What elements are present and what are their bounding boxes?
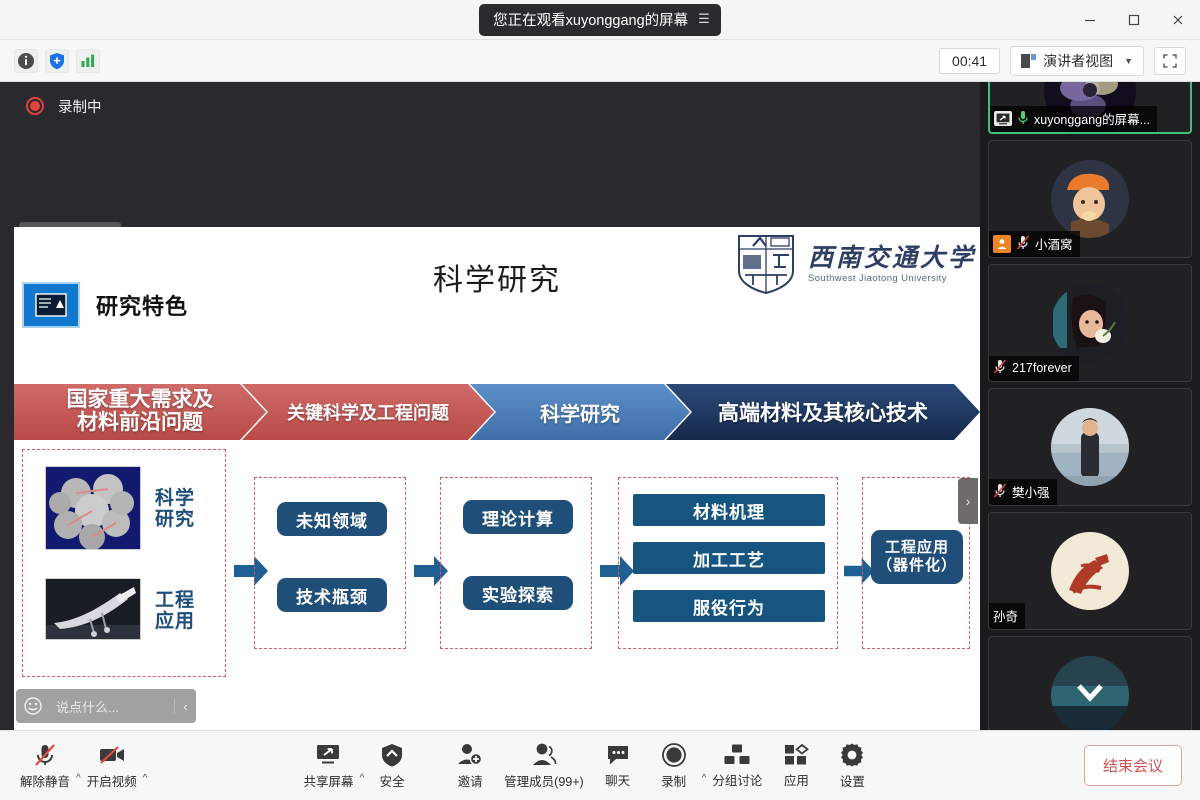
breakout-rooms-label: 分组讨论 [712,770,762,789]
manage-participants-button[interactable]: 管理成员(99+) [498,742,590,790]
meeting-timer: 00:41 [939,48,1000,74]
settings-button[interactable]: 设置 [824,742,880,790]
participant-name: 小酒窝 [1035,234,1073,253]
slide-subheading-label: 研究特色 [96,289,188,321]
sharing-indicator[interactable]: 您正在观看xuyonggang的屏幕 ☰ [479,4,721,36]
apps-button[interactable]: 应用 [768,743,824,789]
shared-screen-area: 录制中 锁定画面 科学研究 [0,82,980,730]
screen-share-icon [994,111,1012,126]
share-screen-button[interactable]: 共享屏幕 [297,742,359,790]
chevron-step-2: 关键科学及工程问题 [242,384,494,440]
engineering-application-caption: 工程 应用 [155,590,195,633]
breakout-rooms-icon [723,743,751,767]
participant-tile-fanxiaoqiang[interactable]: 樊小强 [988,388,1192,506]
record-label: 录制 [661,771,686,790]
participant-name-row: 樊小强 [989,479,1057,505]
recording-label: 录制中 [58,96,102,117]
chat-bubble-icon [605,743,631,767]
mic-off-icon [993,483,1007,501]
university-logo: 西南交通大学 Southwest Jiaotong University [733,233,976,295]
start-video-button[interactable]: 开启视频 [81,742,143,790]
security-button[interactable]: 安全 [364,742,420,790]
participant-tile-217forever[interactable]: 217forever [988,264,1192,382]
mic-off-icon [993,359,1007,377]
shield-plus-icon[interactable] [45,49,69,73]
presentation-slide: 科学研究 西南交通大学 Southwest Jiaotong Universit… [14,227,980,730]
share-screen-label: 共享屏幕 [303,771,353,790]
unmute-button[interactable]: 解除静音 [14,742,76,790]
title-bar: 您正在观看xuyonggang的屏幕 ☰ [0,0,1200,40]
toolbar-left-icons [0,49,100,73]
sharing-menu-icon[interactable]: ☰ [698,11,709,27]
chat-input-overlay[interactable]: 说点什么... ‹ [16,689,196,723]
settings-label: 设置 [840,771,865,790]
chat-button[interactable]: 聊天 [590,743,646,789]
participant-tile-partial[interactable] [988,636,1192,730]
close-button[interactable] [1156,0,1200,40]
participant-name-row: 217forever [989,356,1079,381]
participant-tile-xuyonggang[interactable]: xuyonggang的屏幕... [988,82,1192,134]
chevron-step-4-label: 高端材料及其核心技术 [718,397,928,427]
apps-grid-icon [783,743,809,767]
record-circle-icon [661,742,687,768]
flow-box-experiment-label: 实验探索 [482,581,554,606]
participant-name: 孙奇 [993,606,1018,625]
chevron-step-2-label: 关键科学及工程问题 [287,399,449,425]
share-screen-icon [313,742,343,768]
flow-panel-1: 科学 研究 工程 [22,449,226,677]
engineering-application-image [45,578,141,640]
maximize-button[interactable] [1112,0,1156,40]
flow-box-processing-label: 加工工艺 [693,546,765,571]
university-crest-icon [733,233,799,295]
breakout-rooms-button[interactable]: 分组讨论 [706,743,768,789]
unmute-label: 解除静音 [20,771,70,790]
mic-off-icon [1016,235,1030,253]
chevron-step-1-line-1: 国家重大需求及 [67,389,214,412]
flow-panel-3: 理论计算 实验探索 [440,477,592,649]
chevron-down-icon: ▼ [1124,56,1133,66]
chevron-step-3-label: 科学研究 [540,398,620,427]
participant-tile-sunqi[interactable]: 孙奇 [988,512,1192,630]
info-icon[interactable] [14,49,38,73]
user-plus-icon [456,742,484,768]
slide-subheading: 研究特色 [22,282,188,328]
avatar [1051,532,1129,610]
invite-button[interactable]: 邀请 [442,742,498,790]
chat-collapse-icon[interactable]: ‹ [174,699,196,714]
science-research-caption-line-1: 科学 [155,488,195,509]
video-off-icon [97,742,127,768]
avatar [1051,656,1129,730]
flow-box-unknown-field: 未知领域 [277,502,387,536]
speaker-view-icon [1021,54,1036,68]
chat-input-placeholder[interactable]: 说点什么... [50,697,174,716]
start-video-label: 开启视频 [87,771,137,790]
flow-box-tech-bottleneck: 技术瓶颈 [277,578,387,612]
participant-tile-xiaojiuwo[interactable]: 小酒窝 [988,140,1192,258]
process-chevron-banner: 国家重大需求及 材料前沿问题 关键科学及工程问题 科学研究 高端材料及其核心技术 [14,384,980,440]
fullscreen-button[interactable] [1154,47,1186,75]
logo-name-cn: 西南交通大学 [808,245,976,270]
science-research-image [45,466,141,550]
avatar [1051,160,1129,238]
flow-box-experiment: 实验探索 [463,576,573,610]
mic-on-icon [1017,110,1029,128]
logo-name-en: Southwest Jiaotong University [808,273,976,284]
flow-box-engineering-app-line-2: （器件化） [877,557,957,575]
flow-box-tech-bottleneck-label: 技术瓶颈 [296,583,368,608]
flow-box-engineering-app-line-1: 工程应用 [885,539,949,557]
shield-icon [379,742,405,768]
participant-name: 217forever [1012,361,1072,375]
minimize-button[interactable] [1068,0,1112,40]
flow-panel-4: 材料机理 加工工艺 服役行为 [618,477,838,649]
flow-box-unknown-field-label: 未知领域 [296,507,368,532]
avatar [1051,284,1129,362]
view-mode-selector[interactable]: 演讲者视图 ▼ [1010,46,1144,76]
participant-name: xuyonggang的屏幕... [1034,109,1150,128]
flow-box-theory-calc: 理论计算 [463,500,573,534]
participants-panel[interactable]: xuyonggang的屏幕... [980,82,1200,730]
science-research-caption: 科学 研究 [155,488,195,531]
engineering-application-caption-line-2: 应用 [155,611,195,632]
flow-box-material-mechanism-label: 材料机理 [693,498,765,523]
document-icon [22,282,80,328]
chevron-step-4: 高端材料及其核心技术 [666,384,980,440]
view-mode-label: 演讲者视图 [1043,51,1113,71]
flow-panel-5: 工程应用 （器件化） [862,477,970,649]
security-label: 安全 [380,771,405,790]
recording-indicator: 录制中 [0,82,980,130]
engineering-application-caption-line-1: 工程 [155,590,195,611]
participant-name-row: xuyonggang的屏幕... [990,106,1157,132]
participant-name-row: 孙奇 [989,603,1025,629]
video-options-chevron-up-icon[interactable]: ^ [143,773,148,784]
flow-panel-2: 未知领域 技术瓶颈 [254,477,406,649]
flow-box-service-behavior-label: 服役行为 [693,594,765,619]
invite-label: 邀请 [458,771,483,790]
participants-icon [530,742,558,768]
recording-dot-icon [26,97,44,115]
mic-off-icon [32,742,58,768]
science-research-caption-line-2: 研究 [155,509,195,530]
zoom-meeting-window: 您正在观看xuyonggang的屏幕 ☰ [0,0,1200,800]
network-stats-icon[interactable] [76,49,100,73]
meeting-toolbar: 00:41 演讲者视图 ▼ [0,40,1200,82]
apps-label: 应用 [784,770,809,789]
flow-box-theory-calc-label: 理论计算 [482,505,554,530]
end-meeting-button[interactable]: 结束会议 [1084,745,1182,786]
window-controls [1068,0,1200,40]
meeting-controls-bar: 解除静音 ^ 开启视频 ^ 共享屏幕 ^ [0,730,1200,800]
participant-name: 樊小强 [1012,482,1050,501]
chevron-step-1-line-2: 材料前沿问题 [67,412,214,435]
logo-text-block: 西南交通大学 Southwest Jiaotong University [808,245,976,284]
record-button[interactable]: 录制 [646,742,702,790]
flow-box-engineering-app: 工程应用 （器件化） [871,530,963,584]
flow-box-material-mechanism: 材料机理 [633,494,825,526]
participant-name-row: 小酒窝 [989,231,1080,257]
toolbar-right-controls: 00:41 演讲者视图 ▼ [939,46,1200,76]
manage-participants-label: 管理成员(99+) [504,771,584,790]
chevron-step-1: 国家重大需求及 材料前沿问题 [14,384,266,440]
flow-box-service-behavior: 服役行为 [633,590,825,622]
avatar [1051,408,1129,486]
avatar-placeholder-icon [993,235,1011,253]
gear-icon [839,742,865,768]
panel-collapse-handle[interactable]: › [958,478,978,524]
chevron-step-3: 科学研究 [470,384,690,440]
flow-diagram: 科学 研究 工程 [14,449,980,730]
emoji-icon[interactable] [16,697,50,715]
flow-box-processing: 加工工艺 [633,542,825,574]
chat-label: 聊天 [605,770,630,789]
sharing-label: 您正在观看xuyonggang的屏幕 [493,9,688,30]
